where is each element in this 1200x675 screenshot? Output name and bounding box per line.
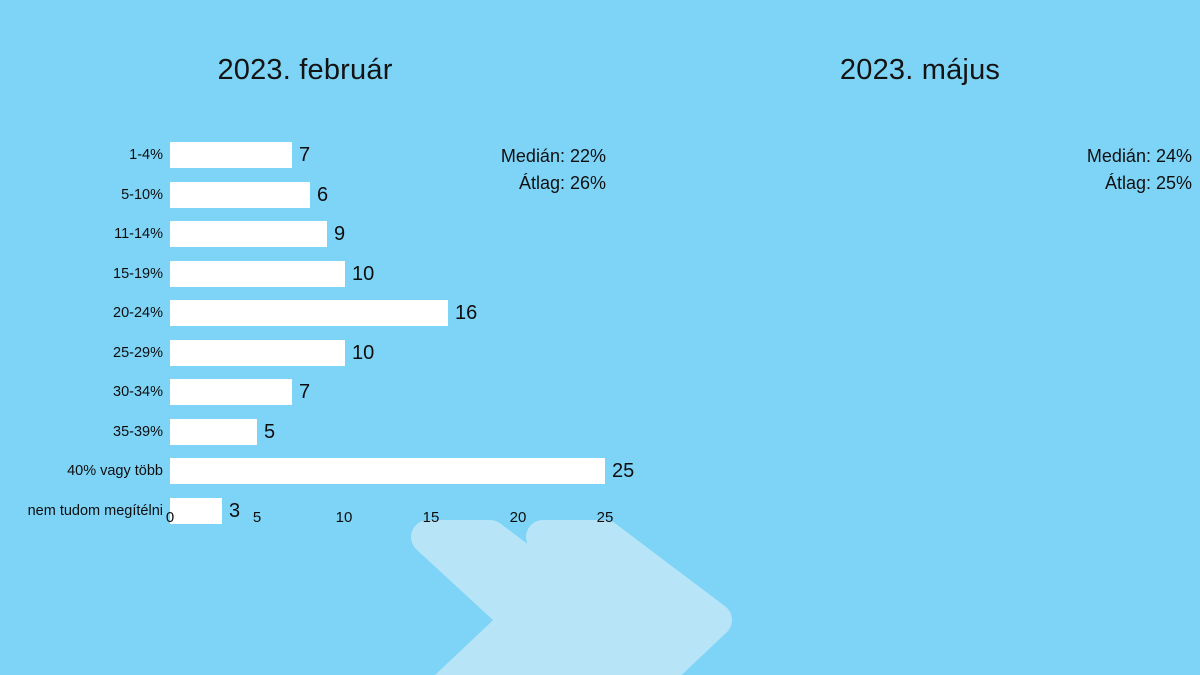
bar-row: 5-10%6 — [170, 180, 665, 210]
bar-row: 40% vagy több25 — [170, 456, 665, 486]
bar-row: 20-24%16 — [170, 298, 665, 328]
bar-row: 11-14%9 — [170, 219, 665, 249]
bar-row: 25-29%10 — [170, 338, 665, 368]
plot-area-majus: 61111111087622605101520 — [640, 0, 1200, 675]
plot-area-februar: 1-4%75-10%611-14%915-19%1020-24%1625-29%… — [0, 0, 640, 675]
bar-value-label: 10 — [352, 338, 374, 368]
bar-value-label: 16 — [455, 298, 477, 328]
bar — [170, 340, 345, 366]
category-label: 35-39% — [113, 417, 170, 447]
bar-value-label: 7 — [299, 140, 310, 170]
bar-row: 1-4%7 — [170, 140, 665, 170]
axis-tick: 0 — [166, 506, 174, 530]
bar — [170, 261, 345, 287]
chart-majus: 2023. május Medián: 24% Átlag: 25% 61111… — [640, 0, 1200, 675]
slide-canvas: 2023. február Medián: 22% Átlag: 26% 1-4… — [0, 0, 1200, 675]
bar-row: 15-19%10 — [170, 259, 665, 289]
bar-value-label: 9 — [334, 219, 345, 249]
bar — [170, 379, 292, 405]
axis-tick: 25 — [597, 506, 614, 530]
bar-row: 35-39%5 — [170, 417, 665, 447]
category-label: 5-10% — [121, 180, 170, 210]
bar — [170, 419, 257, 445]
bar-value-label: 7 — [299, 377, 310, 407]
axis-tick: 20 — [510, 506, 527, 530]
category-label: 25-29% — [113, 338, 170, 368]
bar-value-label: 25 — [612, 456, 634, 486]
axis-tick: 5 — [253, 506, 261, 530]
bar — [170, 142, 292, 168]
category-label: 11-14% — [114, 219, 170, 249]
axis-tick: 10 — [336, 506, 353, 530]
bar — [170, 300, 448, 326]
bar-value-label: 10 — [352, 259, 374, 289]
category-label: 20-24% — [113, 298, 170, 328]
bar — [170, 458, 605, 484]
category-label: 15-19% — [113, 259, 170, 289]
bar-row: 30-34%7 — [170, 377, 665, 407]
bar — [170, 182, 310, 208]
category-label: 1-4% — [129, 140, 170, 170]
category-label: 30-34% — [113, 377, 170, 407]
chart-februar: 2023. február Medián: 22% Átlag: 26% 1-4… — [0, 0, 640, 675]
category-label: 40% vagy több — [67, 456, 170, 486]
bar — [170, 221, 327, 247]
bar-value-label: 6 — [317, 180, 328, 210]
axis-tick: 15 — [423, 506, 440, 530]
category-label: nem tudom megítélni — [28, 496, 170, 526]
bar-value-label: 5 — [264, 417, 275, 447]
